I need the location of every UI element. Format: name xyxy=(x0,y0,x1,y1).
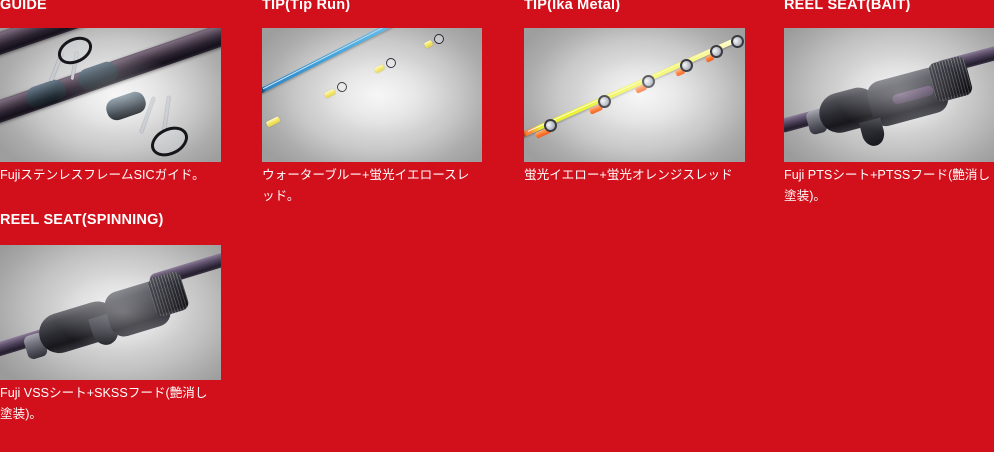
photo-reel-seat-spinning xyxy=(0,245,221,380)
section-heading-reel-seat-bait: REEL SEAT(BAIT) xyxy=(784,0,994,12)
section-caption-ika-metal: 蛍光イエロー+蛍光オレンジスレッド xyxy=(524,165,740,186)
gallery-row-1: GUIDE Fujiステンレスフレー厶SICガイド。 TIP(Tip Run) xyxy=(0,0,994,207)
feature-cell-guide: GUIDE Fujiステンレスフレー厶SICガイド。 xyxy=(0,0,262,186)
feature-cell-reel-seat-bait: REEL SEAT(BAIT) Fuji PTSシート+PTSSフード(艶消し塗… xyxy=(784,0,994,207)
section-heading-guide: GUIDE xyxy=(0,0,262,12)
photo-guide xyxy=(0,28,221,162)
feature-cell-ika-metal: TIP(Ika Metal) 蛍光イエロー+蛍光オレンジスレッド xyxy=(524,0,784,186)
feature-gallery: GUIDE Fujiステンレスフレー厶SICガイド。 TIP(Tip Run) xyxy=(0,0,994,425)
section-caption-reel-seat-bait: Fuji PTSシート+PTSSフード(艶消し塗装)。 xyxy=(784,165,994,207)
photo-reel-seat-bait xyxy=(784,28,994,162)
section-heading-reel-seat-spinning: REEL SEAT(SPINNING) xyxy=(0,213,262,231)
photo-tip-run xyxy=(262,28,482,162)
section-heading-ika-metal: TIP(Ika Metal) xyxy=(524,0,784,12)
section-heading-tip-run: TIP(Tip Run) xyxy=(262,0,524,12)
feature-cell-tip-run: TIP(Tip Run) ウォーターブルー+蛍光イエロースレッド。 xyxy=(262,0,524,207)
feature-cell-reel-seat-spinning: REEL SEAT(SPINNING) Fuji VSSシート+SKSSフード(… xyxy=(0,207,262,425)
section-caption-tip-run: ウォーターブルー+蛍光イエロースレッド。 xyxy=(262,165,478,207)
gallery-row-2: REEL SEAT(SPINNING) Fuji VSSシート+SKSSフード(… xyxy=(0,207,994,425)
photo-ika-metal xyxy=(524,28,745,162)
section-caption-reel-seat-spinning: Fuji VSSシート+SKSSフード(艶消し塗装)。 xyxy=(0,383,216,425)
section-caption-guide: Fujiステンレスフレー厶SICガイド。 xyxy=(0,165,216,186)
photo-backdrop xyxy=(262,28,482,162)
